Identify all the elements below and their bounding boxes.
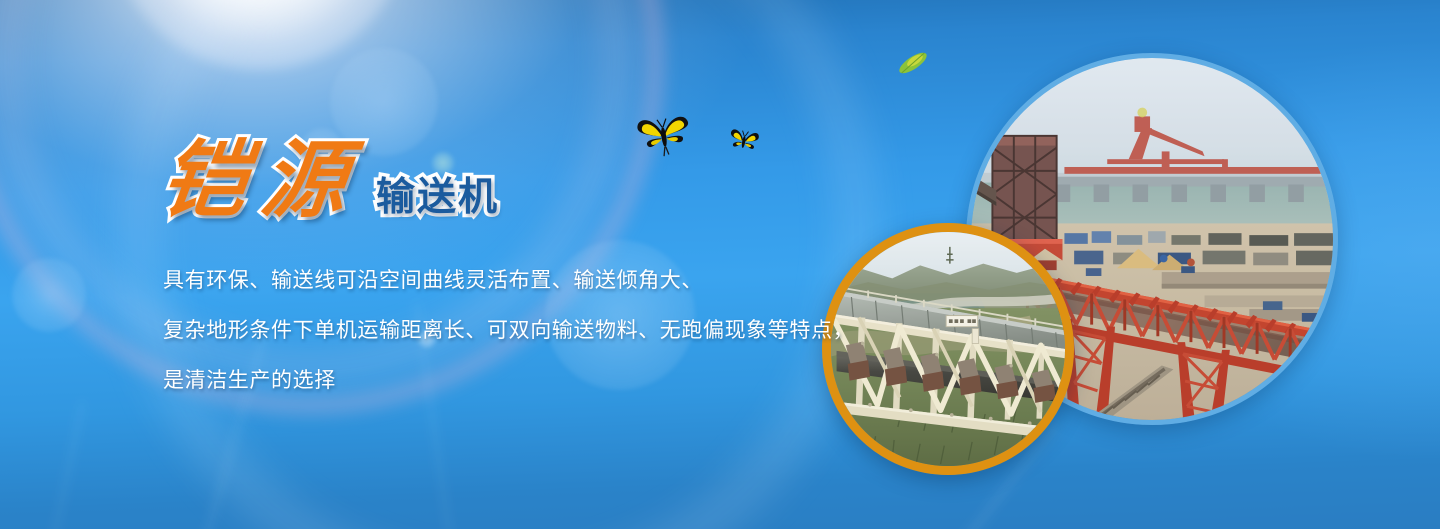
leaf-icon — [893, 45, 932, 81]
description-line-2: 复杂地形条件下单机运输距离长、可双向输送物料、无跑偏现象等特点， — [163, 306, 963, 356]
description-line-1: 具有环保、输送线可沿空间曲线灵活布置、输送倾角大、 — [163, 256, 963, 306]
butterfly-icon — [726, 123, 762, 156]
description-line-3: 是清洁生产的选择 — [163, 356, 963, 406]
lens-flare-orb — [12, 258, 86, 332]
title-row: 铠源 输送机 — [162, 140, 499, 224]
light-streak — [40, 401, 85, 529]
butterfly-icon — [633, 106, 695, 161]
promo-banner: 铠源 输送机 具有环保、输送线可沿空间曲线灵活布置、输送倾角大、 复杂地形条件下… — [0, 0, 1440, 529]
banner-title-block: 铠源 输送机 — [162, 140, 499, 224]
product-label: 输送机 — [376, 178, 499, 217]
brand-title: 铠源 — [157, 140, 367, 224]
banner-description: 具有环保、输送线可沿空间曲线灵活布置、输送倾角大、 复杂地形条件下单机运输距离长… — [163, 256, 963, 406]
